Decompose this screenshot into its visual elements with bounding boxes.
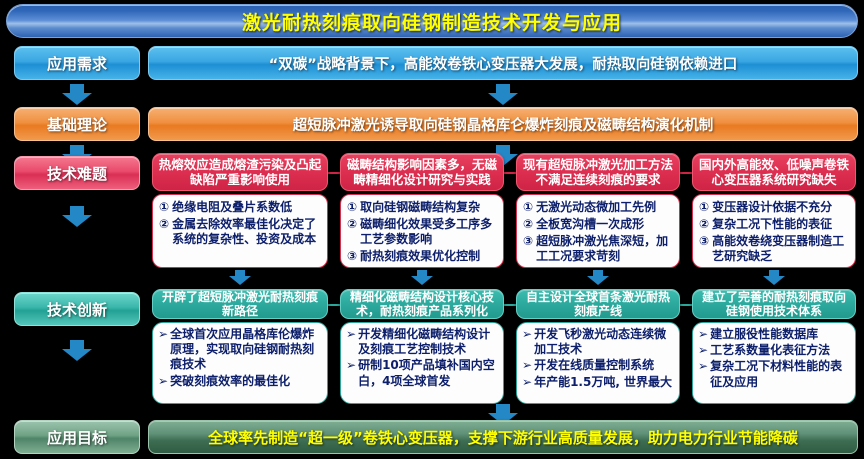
item-text: 开发飞秒激光动态连续微加工技术 [534,327,674,357]
item-text: 耐热刻痕效果优化控制 [360,249,498,264]
innovation-list-3: ➢开发飞秒激光动态连续微加工技术 ➢开发在线质量控制系统 ➢年产能1.5万吨, … [522,327,674,390]
bullet-icon: ➢ [158,374,168,389]
list-item: ③耐热刻痕效果优化控制 [347,249,498,264]
innovation-body-3: ➢开发飞秒激光动态连续微加工技术 ➢开发在线质量控制系统 ➢年产能1.5万吨, … [516,322,680,404]
problem-body-4: ①变压器设计依据不充分 ②复杂工况下性能的表征 ③高能效卷绕变压器制造工艺研究缺… [692,194,856,268]
item-text: 全球首次应用晶格库伦爆炸原理，实现取向硅钢耐热刻痕技术 [170,327,322,373]
arrow-down-problem-3 [587,270,609,285]
list-item: ②金属去除效率最佳化决定了系统的复杂性、投资及成本 [159,217,322,247]
flowchart-canvas: 激光耐热刻痕取向硅钢制造技术开发与应用 应用需求 “双碳”战略背景下，高能效卷铁… [0,0,864,459]
row-label-demand: 应用需求 [14,46,140,80]
list-item: ➢全球首次应用晶格库伦爆炸原理，实现取向硅钢耐热刻痕技术 [158,327,322,373]
row-banner-demand: “双碳”战略背景下，高能效卷铁心变压器大发展，耐热取向硅钢依赖进口 [148,46,858,80]
list-item: ➢复杂工况下材料性能的表征及应用 [698,359,850,389]
bullet-icon: ➢ [158,327,168,373]
problem-body-1: ①绝缘电阻及叠片系数低 ②金属去除效率最佳化决定了系统的复杂性、投资及成本 [152,194,328,268]
page-title: 激光耐热刻痕取向硅钢制造技术开发与应用 [6,4,858,38]
list-item: ➢建立服役性能数据库 [698,327,850,342]
problem-list-2: ①取向硅钢磁畴结构复杂 ②磁畴细化效果受多工序多工艺参数影响 ③耐热刻痕效果优化… [347,200,498,264]
problem-head-2: 磁畴结构影响因素多，无磁畴精细化设计研究与实践 [340,153,504,191]
item-text: 工艺系数量化表征方法 [710,343,850,358]
list-item: ①绝缘电阻及叠片系数低 [159,200,322,215]
innovation-list-1: ➢全球首次应用晶格库伦爆炸原理，实现取向硅钢耐热刻痕技术 ➢突破刻痕效率的最佳化 [158,327,322,389]
item-text: 高能效卷绕变压器制造工艺研究缺乏 [712,234,850,264]
list-item: ➢开发精细化磁畴结构设计及刻痕工艺控制技术 [346,327,498,357]
item-number: ③ [699,234,709,264]
item-text: 全板宽沟槽一次成形 [536,217,674,232]
item-number: ① [347,200,357,215]
row-banner-theory: 超短脉冲激光诱导取向硅钢晶格库仑爆炸刻痕及磁畴结构演化机制 [148,107,858,141]
innovation-head-2: 精细化磁畴结构设计核心技术，耐热刻痕产品系列化 [340,289,504,319]
list-item: ①取向硅钢磁畴结构复杂 [347,200,498,215]
list-item: ➢工艺系数量化表征方法 [698,343,850,358]
item-text: 无激光动态微加工先例 [536,200,674,215]
row-label-goal: 应用目标 [14,420,140,454]
list-item: ②全板宽沟槽一次成形 [523,217,674,232]
innovation-head-1: 开辟了超短脉冲激光耐热刻痕新路径 [152,289,328,319]
item-number: ② [699,217,709,232]
item-number: ③ [523,234,533,264]
item-number: ① [523,200,533,215]
problem-list-1: ①绝缘电阻及叠片系数低 ②金属去除效率最佳化决定了系统的复杂性、投资及成本 [159,200,322,247]
innovation-head-4: 建立了完善的耐热刻痕取向硅钢使用技术体系 [692,289,856,319]
problem-head-4: 国内外高能效、低噪声卷铁心变压器系统研究缺失 [692,153,856,191]
innovation-head-3: 自主设计全球首条激光耐热刻痕产线 [516,289,680,319]
row-label-theory: 基础理论 [14,107,140,141]
item-text: 研制10项产品填补国内空白，4项全球首发 [358,358,498,388]
problem-body-3: ①无激光动态微加工先例 ②全板宽沟槽一次成形 ③超短脉冲激光焦深短，加工工况要求… [516,194,680,268]
arrow-down-problem-1 [229,270,251,285]
bullet-icon: ➢ [698,359,708,389]
bullet-icon: ➢ [346,327,356,357]
connector-problem-1-2 [328,172,340,174]
connector-problem-2-3 [504,172,516,174]
item-number: ③ [347,249,357,264]
list-item: ➢开发飞秒激光动态连续微加工技术 [522,327,674,357]
list-item: ③高能效卷绕变压器制造工艺研究缺乏 [699,234,850,264]
item-number: ① [159,200,169,215]
item-text: 取向硅钢磁畴结构复杂 [360,200,498,215]
bullet-icon: ➢ [522,327,532,357]
connector-problem-3-4 [680,172,692,174]
arrow-down-problem-4 [763,270,785,285]
problem-head-3: 现有超短脉冲激光加工方法不满足连续刻痕的要求 [516,153,680,191]
item-number: ② [523,217,533,232]
arrow-down-problems-left [62,206,92,227]
row-label-innovation: 技术创新 [14,292,140,326]
problem-body-2: ①取向硅钢磁畴结构复杂 ②磁畴细化效果受多工序多工艺参数影响 ③耐热刻痕效果优化… [340,194,504,268]
row-label-problems: 技术难题 [14,156,140,190]
item-text: 年产能1.5万吨, 世界最大 [534,375,674,390]
item-text: 变压器设计依据不充分 [712,200,850,215]
arrow-down-demand-left [62,84,92,105]
innovation-body-1: ➢全球首次应用晶格库伦爆炸原理，实现取向硅钢耐热刻痕技术 ➢突破刻痕效率的最佳化 [152,322,328,404]
list-item: ➢突破刻痕效率的最佳化 [158,374,322,389]
bullet-icon: ➢ [522,375,532,390]
item-number: ② [347,217,357,247]
list-item: ➢年产能1.5万吨, 世界最大 [522,375,674,390]
innovation-body-4: ➢建立服役性能数据库 ➢工艺系数量化表征方法 ➢复杂工况下材料性能的表征及应用 [692,322,856,404]
arrow-down-demand-center [488,84,518,105]
item-text: 复杂工况下性能的表征 [712,217,850,232]
item-text: 磁畴细化效果受多工序多工艺参数影响 [360,217,498,247]
connector-innovation-3-4 [680,304,692,306]
connector-innovation-2-3 [504,304,516,306]
item-number: ② [159,217,169,247]
list-item: ①变压器设计依据不充分 [699,200,850,215]
list-item: ①无激光动态微加工先例 [523,200,674,215]
item-text: 超短脉冲激光焦深短，加工工况要求苛刻 [536,234,674,264]
arrow-down-innovation-left [62,340,92,361]
item-number: ① [699,200,709,215]
problem-head-1: 热熔效应造成熔渣污染及凸起缺陷严重影响使用 [152,153,328,191]
item-text: 建立服役性能数据库 [710,327,850,342]
bullet-icon: ➢ [698,327,708,342]
list-item: ➢开发在线质量控制系统 [522,358,674,373]
arrow-down-problem-2 [411,270,433,285]
problem-list-3: ①无激光动态微加工先例 ②全板宽沟槽一次成形 ③超短脉冲激光焦深短，加工工况要求… [523,200,674,264]
problem-list-4: ①变压器设计依据不充分 ②复杂工况下性能的表征 ③高能效卷绕变压器制造工艺研究缺… [699,200,850,264]
item-text: 复杂工况下材料性能的表征及应用 [710,359,850,389]
list-item: ②磁畴细化效果受多工序多工艺参数影响 [347,217,498,247]
item-text: 突破刻痕效率的最佳化 [170,374,322,389]
bullet-icon: ➢ [698,343,708,358]
bullet-icon: ➢ [346,358,356,388]
connector-innovation-1-2 [328,304,340,306]
innovation-list-4: ➢建立服役性能数据库 ➢工艺系数量化表征方法 ➢复杂工况下材料性能的表征及应用 [698,327,850,390]
item-text: 开发精细化磁畴结构设计及刻痕工艺控制技术 [358,327,498,357]
bullet-icon: ➢ [522,358,532,373]
innovation-body-2: ➢开发精细化磁畴结构设计及刻痕工艺控制技术 ➢研制10项产品填补国内空白，4项全… [340,322,504,404]
list-item: ③超短脉冲激光焦深短，加工工况要求苛刻 [523,234,674,264]
innovation-list-2: ➢开发精细化磁畴结构设计及刻痕工艺控制技术 ➢研制10项产品填补国内空白，4项全… [346,327,498,389]
item-text: 绝缘电阻及叠片系数低 [172,200,322,215]
item-text: 开发在线质量控制系统 [534,358,674,373]
list-item: ②复杂工况下性能的表征 [699,217,850,232]
list-item: ➢研制10项产品填补国内空白，4项全球首发 [346,358,498,388]
item-text: 金属去除效率最佳化决定了系统的复杂性、投资及成本 [172,217,322,247]
row-banner-goal: 全球率先制造“超一级”卷铁心变压器，支撑下游行业高质量发展，助力电力行业节能降碳 [148,420,858,454]
